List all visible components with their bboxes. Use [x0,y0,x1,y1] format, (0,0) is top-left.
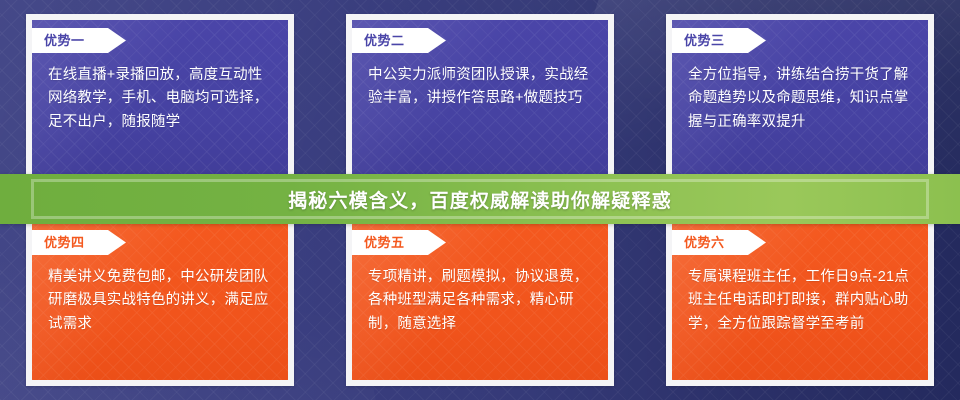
advantage-card-5-panel: 优势五 专项精讲，刷题模拟，协议退费，各种班型满足各种需求，精心研制，随意选择 [352,222,608,380]
advantage-card-2-ribbon: 优势二 [352,28,446,53]
advantage-card-4-ribbon: 优势四 [32,230,126,255]
advantage-cell-5: 优势五 专项精讲，刷题模拟，协议退费，各种班型满足各种需求，精心研制，随意选择 [320,200,640,400]
advantage-cell-2: 优势二 中公实力派师资团队授课，实战经验丰富，讲授作答思路+做题技巧 [320,0,640,200]
advantage-cell-6: 优势六 专属课程班主任，工作日9点-21点班主任电话即打即接，群内贴心助学，全方… [640,200,960,400]
advantage-card-3-text: 全方位指导，讲练结合捞干货了解命题趋势以及命题思维，知识点掌握与正确率双提升 [688,64,912,134]
advantage-card-6-panel: 优势六 专属课程班主任，工作日9点-21点班主任电话即打即接，群内贴心助学，全方… [672,222,928,380]
advantage-card-2-label: 优势二 [364,34,405,47]
advantage-card-3-panel: 优势三 全方位指导，讲练结合捞干货了解命题趋势以及命题思维，知识点掌握与正确率双… [672,20,928,180]
advantage-card-4-text: 精美讲义免费包邮，中公研发团队研磨极具实战特色的讲义，满足应试需求 [48,266,272,336]
advantage-card-2-panel: 优势二 中公实力派师资团队授课，实战经验丰富，讲授作答思路+做题技巧 [352,20,608,180]
advantage-card-1-text: 在线直播+录播回放，高度互动性网络教学，手机、电脑均可选择，足不出户，随报随学 [48,64,272,134]
advantage-card-4[interactable]: 优势四 精美讲义免费包邮，中公研发团队研磨极具实战特色的讲义，满足应试需求 [26,216,294,386]
advantage-card-6-label: 优势六 [684,236,725,249]
advantage-card-4-panel: 优势四 精美讲义免费包邮，中公研发团队研磨极具实战特色的讲义，满足应试需求 [32,222,288,380]
advantage-card-2[interactable]: 优势二 中公实力派师资团队授课，实战经验丰富，讲授作答思路+做题技巧 [346,14,614,186]
advantage-card-6-ribbon: 优势六 [672,230,766,255]
advantage-card-2-text: 中公实力派师资团队授课，实战经验丰富，讲授作答思路+做题技巧 [368,64,592,111]
advantage-cell-3: 优势三 全方位指导，讲练结合捞干货了解命题趋势以及命题思维，知识点掌握与正确率双… [640,0,960,200]
advantage-card-1-panel: 优势一 在线直播+录播回放，高度互动性网络教学，手机、电脑均可选择，足不出户，随… [32,20,288,180]
advantage-card-1-label: 优势一 [44,34,85,47]
advantage-cell-4: 优势四 精美讲义免费包邮，中公研发团队研磨极具实战特色的讲义，满足应试需求 [0,200,320,400]
advantage-card-4-label: 优势四 [44,236,85,249]
advantage-card-1-ribbon: 优势一 [32,28,126,53]
advantage-card-5-label: 优势五 [364,236,405,249]
advantage-card-6-text: 专属课程班主任，工作日9点-21点班主任电话即打即接，群内贴心助学，全方位跟踪督… [688,266,912,336]
advantage-cell-1: 优势一 在线直播+录播回放，高度互动性网络教学，手机、电脑均可选择，足不出户，随… [0,0,320,200]
advantage-card-5-text: 专项精讲，刷题模拟，协议退费，各种班型满足各种需求，精心研制，随意选择 [368,266,592,336]
advantage-card-6[interactable]: 优势六 专属课程班主任，工作日9点-21点班主任电话即打即接，群内贴心助学，全方… [666,216,934,386]
advantage-card-1[interactable]: 优势一 在线直播+录播回放，高度互动性网络教学，手机、电脑均可选择，足不出户，随… [26,14,294,186]
advantage-card-5-ribbon: 优势五 [352,230,446,255]
banner-headline: 揭秘六模含义，百度权威解读助你解疑释惑 [288,186,672,213]
advantage-card-3[interactable]: 优势三 全方位指导，讲练结合捞干货了解命题趋势以及命题思维，知识点掌握与正确率双… [666,14,934,186]
advantage-card-3-label: 优势三 [684,34,725,47]
promo-poster: 优势一 在线直播+录播回放，高度互动性网络教学，手机、电脑均可选择，足不出户，随… [0,0,960,400]
headline-banner: 揭秘六模含义，百度权威解读助你解疑释惑 [0,174,960,224]
advantage-card-3-ribbon: 优势三 [672,28,766,53]
advantage-card-5[interactable]: 优势五 专项精讲，刷题模拟，协议退费，各种班型满足各种需求，精心研制，随意选择 [346,216,614,386]
